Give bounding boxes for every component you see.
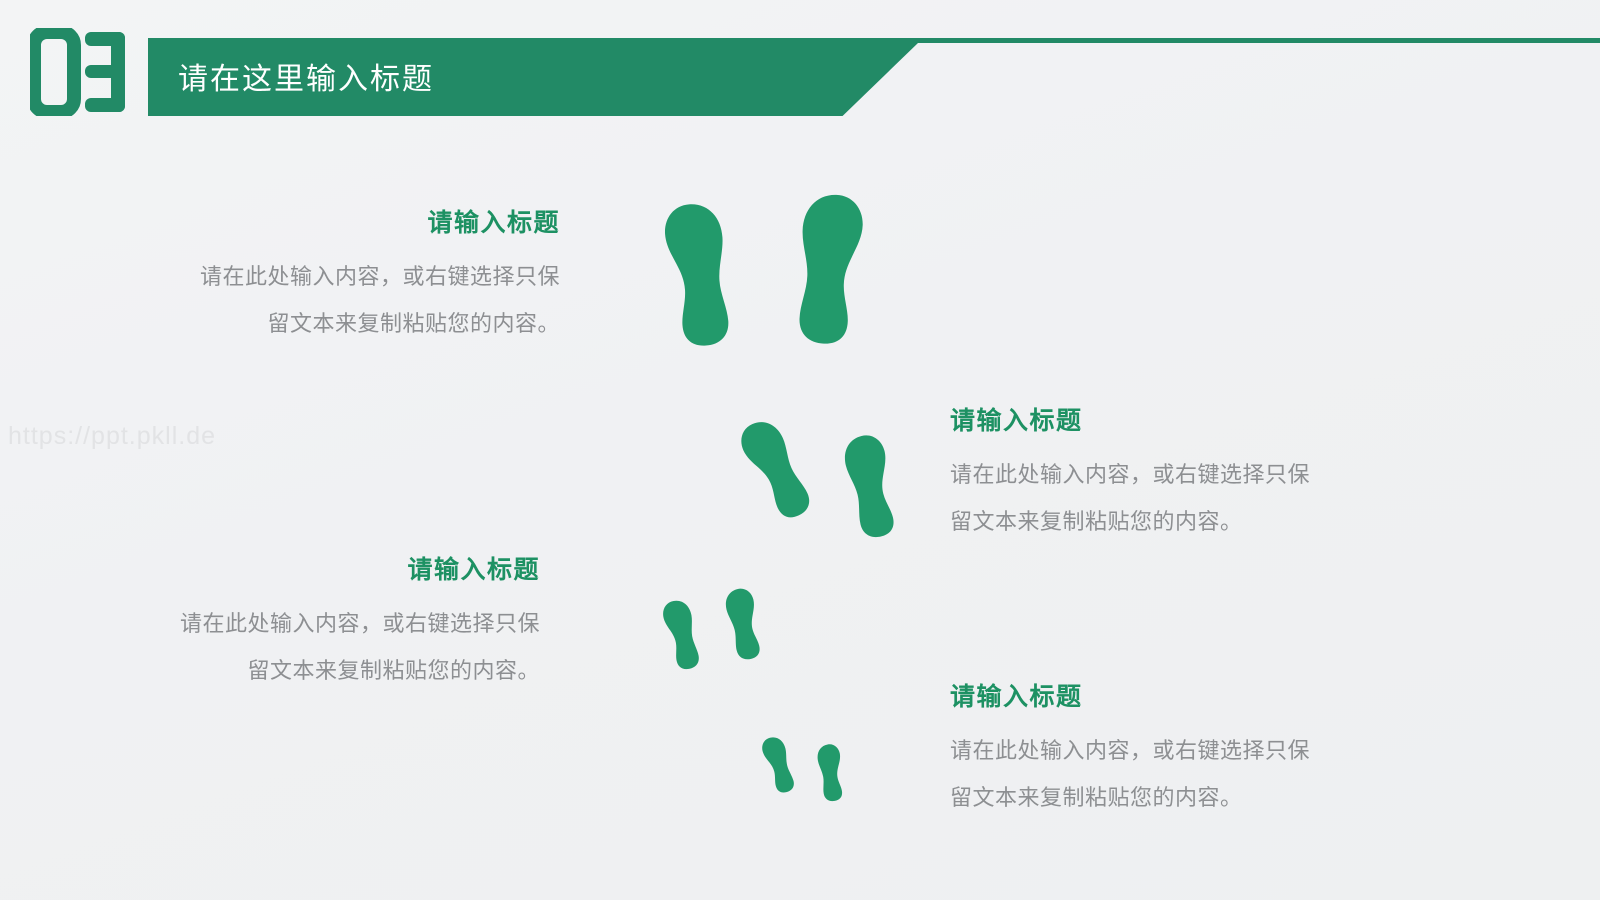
- digit-three-glyph: [85, 32, 125, 112]
- block-title: 请输入标题: [100, 206, 560, 240]
- footprint-right: [722, 586, 767, 662]
- header-top-rule: [148, 38, 1600, 43]
- section-number-badge: [30, 28, 130, 116]
- block-body-line-1: 请在此处输入内容，或右键选择只保: [100, 253, 560, 300]
- block-body-line-1: 请在此处输入内容，或右键选择只保: [80, 600, 540, 647]
- text-block-1: 请输入标题 请在此处输入内容，或右键选择只保 留文本来复制粘贴您的内容。: [100, 206, 560, 347]
- block-title: 请输入标题: [950, 680, 1390, 714]
- footprint-right: [815, 743, 847, 803]
- block-body-line-2: 留文本来复制粘贴您的内容。: [100, 300, 560, 347]
- text-block-3: 请输入标题 请在此处输入内容，或右键选择只保 留文本来复制粘贴您的内容。: [80, 553, 540, 694]
- footprint-pair-2: [735, 415, 904, 540]
- footprint-left: [661, 598, 701, 671]
- footprint-pair-1: [663, 194, 864, 348]
- block-body-line-1: 请在此处输入内容，或右键选择只保: [950, 451, 1390, 498]
- footprint-pair-4: [760, 735, 848, 803]
- footprint-left: [735, 415, 814, 525]
- footprint-right: [799, 194, 864, 345]
- block-title: 请输入标题: [80, 553, 540, 587]
- slide-canvas: 请在这里输入标题 https://ppt.pkll.de: [0, 0, 1600, 900]
- block-body-line-2: 留文本来复制粘贴您的内容。: [80, 647, 540, 694]
- block-body-line-2: 留文本来复制粘贴您的内容。: [950, 774, 1390, 821]
- footprint-left: [663, 202, 730, 348]
- text-block-4: 请输入标题 请在此处输入内容，或右键选择只保 留文本来复制粘贴您的内容。: [950, 680, 1390, 821]
- footprint-pair-3: [661, 586, 767, 672]
- page-title: 请在这里输入标题: [178, 55, 434, 105]
- footprint-right: [840, 431, 905, 540]
- text-block-2: 请输入标题 请在此处输入内容，或右键选择只保 留文本来复制粘贴您的内容。: [950, 404, 1390, 545]
- block-body-line-1: 请在此处输入内容，或右键选择只保: [950, 727, 1390, 774]
- block-title: 请输入标题: [950, 404, 1390, 438]
- watermark-url: https://ppt.pkll.de: [8, 422, 216, 451]
- block-body-line-2: 留文本来复制粘贴您的内容。: [950, 498, 1390, 545]
- footprint-left: [760, 735, 796, 796]
- digit-zero-glyph: [34, 32, 74, 112]
